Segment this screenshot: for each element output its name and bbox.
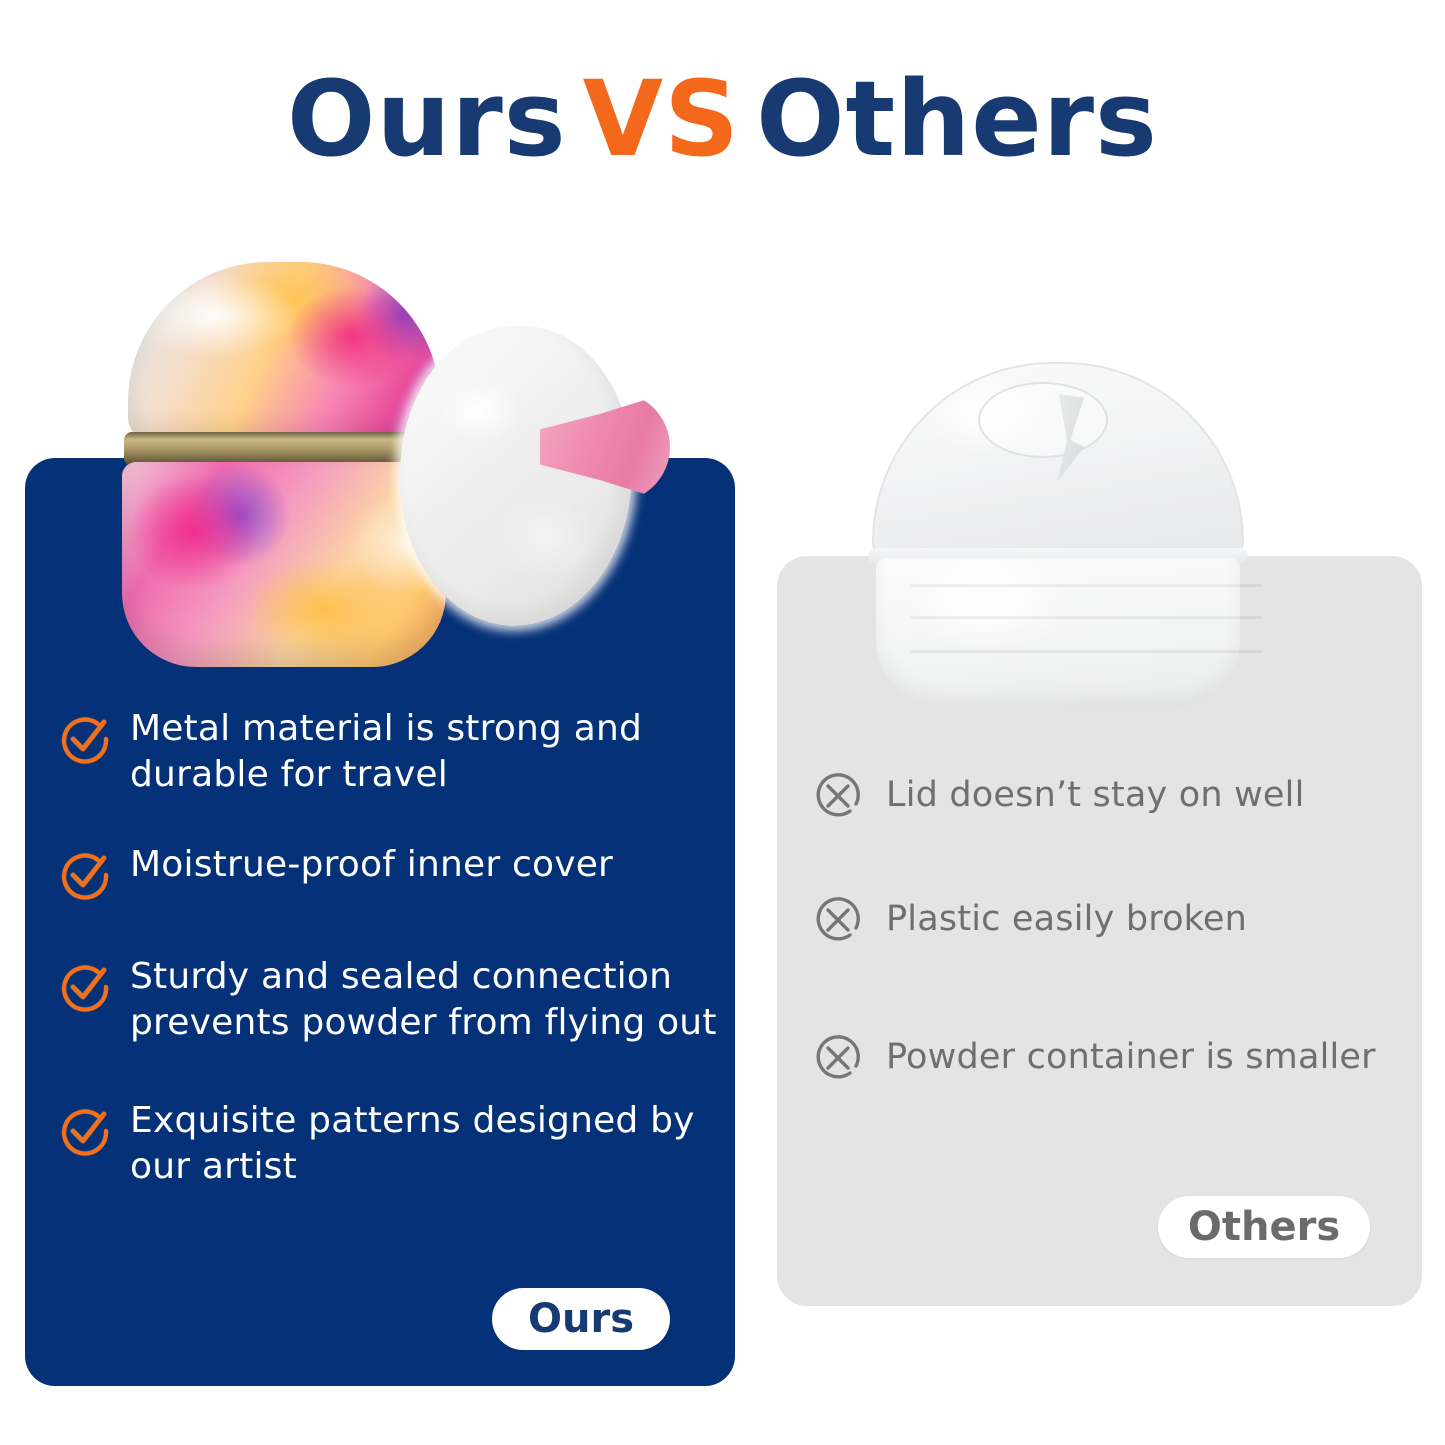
plastic-container-base	[876, 558, 1240, 708]
x-circle-icon	[812, 1032, 864, 1084]
container-groove	[910, 650, 1262, 653]
list-item: Metal material is strong and durable for…	[58, 706, 718, 798]
container-groove	[910, 616, 1262, 619]
check-circle-icon	[58, 712, 112, 766]
list-item-label: Plastic easily broken	[886, 898, 1247, 942]
check-circle-icon	[58, 848, 112, 902]
jar-lid	[128, 262, 440, 440]
list-item-label: Lid doesn’t stay on well	[886, 774, 1305, 818]
jar-gold-band	[124, 432, 444, 466]
list-item-label: Powder container is smaller	[886, 1036, 1376, 1080]
list-item: Exquisite patterns designed by our artis…	[58, 1098, 718, 1190]
container-groove	[910, 584, 1262, 587]
jar-body	[122, 462, 446, 667]
others-product-image	[848, 362, 1268, 710]
others-drawback-list: Lid doesn’t stay on well Plastic easily …	[812, 770, 1402, 1084]
title-vs-word: VS	[583, 58, 740, 180]
list-item: Plastic easily broken	[812, 894, 1402, 946]
ours-product-image	[110, 252, 680, 672]
list-item-label: Moistrue-proof inner cover	[130, 842, 613, 888]
x-circle-icon	[812, 770, 864, 822]
x-circle-icon	[812, 894, 864, 946]
list-item: Sturdy and sealed connection prevents po…	[58, 954, 718, 1046]
plastic-dome-lid	[872, 362, 1244, 558]
list-item: Lid doesn’t stay on well	[812, 770, 1402, 822]
lid-ring-detail	[978, 382, 1108, 458]
list-item: Powder container is smaller	[812, 1032, 1402, 1084]
list-item: Moistrue-proof inner cover	[58, 842, 718, 902]
title-ours-word: Ours	[287, 58, 567, 180]
page-title: OursVSOthers	[0, 62, 1445, 176]
others-badge: Others	[1158, 1196, 1370, 1258]
list-item-label: Sturdy and sealed connection prevents po…	[130, 954, 718, 1046]
title-others-word: Others	[756, 58, 1158, 180]
ours-feature-list: Metal material is strong and durable for…	[58, 706, 718, 1190]
check-circle-icon	[58, 1104, 112, 1158]
comparison-infographic: OursVSOthers	[0, 0, 1445, 1445]
list-item-label: Metal material is strong and durable for…	[130, 706, 718, 798]
list-item-label: Exquisite patterns designed by our artis…	[130, 1098, 718, 1190]
ours-badge: Ours	[492, 1288, 670, 1350]
check-circle-icon	[58, 960, 112, 1014]
